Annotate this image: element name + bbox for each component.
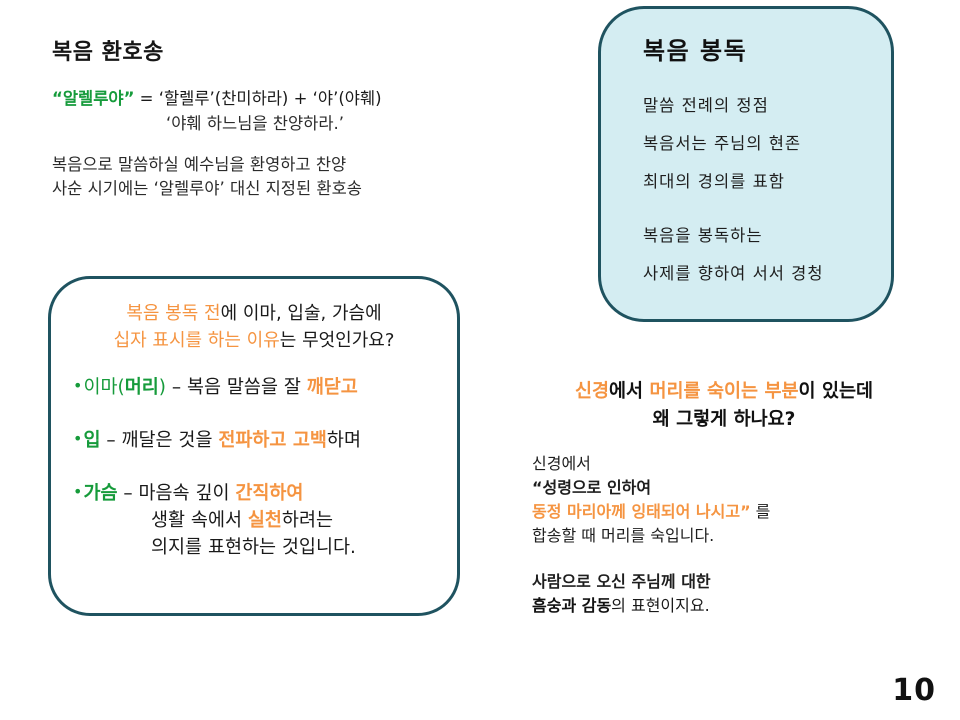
signcross-label-bold: 입	[83, 430, 100, 451]
creed-intro: 신경에서	[532, 452, 948, 476]
proclamation-point: 복음서는 주님의 현존	[643, 125, 889, 163]
list-item: •이마(머리) – 복음 말씀을 잘 깨닫고	[73, 372, 449, 401]
creed-emphasis-tail: 의 표현이지요.	[611, 596, 710, 615]
bullet-icon: •	[73, 376, 83, 395]
proclamation-title: 복음 봉독	[643, 31, 747, 66]
signcross-body-dark: 깨달은 것을	[121, 430, 218, 451]
signcross-body-dark: 복음 말씀을 잘	[187, 377, 307, 398]
signcross-body-orange: 간직하여	[235, 483, 303, 504]
creed-question-line2: 왜 그렇게 하나요?	[500, 406, 948, 434]
signcross-body-orange: 전파하고 고백	[218, 430, 327, 451]
creed-q-seg3: 머리를 숙이는 부분	[649, 381, 798, 402]
creed-quote-line-1: “성령으로 인하여	[532, 476, 948, 500]
acclamation-title: 복음 환호송	[52, 34, 482, 66]
continuation-orange: 실천	[248, 510, 282, 531]
signcross-body-orange: 깨닫고	[307, 377, 358, 398]
signcross-dash: –	[117, 483, 138, 504]
creed-emphasis-bold: 흠숭과 감동	[532, 596, 611, 615]
creed-q-seg1: 신경	[575, 381, 609, 402]
slide-canvas: 복음 환호송 “알렐루야” = ‘할렐루’(찬미하라) + ‘야’(야훼) ‘야…	[0, 0, 960, 720]
signcross-q1-orange: 복음 봉독 전	[126, 303, 220, 324]
creed-question-line: 신경에서 머리를 숙이는 부분이 있는데	[500, 378, 948, 406]
creed-emphasis-line-2: 흠숭과 감동의 표현이지요.	[532, 594, 948, 618]
signcross-dash: –	[166, 377, 187, 398]
proclamation-spacer	[643, 201, 889, 217]
proclamation-box: 복음 봉독 말씀 전례의 정점 복음서는 주님의 현존 최대의 경의를 표함 복…	[598, 6, 894, 322]
acclamation-section: 복음 환호송 “알렐루야” = ‘할렐루’(찬미하라) + ‘야’(야훼) ‘야…	[52, 34, 482, 201]
creed-q-seg4: 이 있는데	[799, 381, 874, 402]
creed-section: 신경에서 머리를 숙이는 부분이 있는데 왜 그렇게 하나요? 신경에서 “성령…	[500, 378, 948, 618]
proclamation-lines: 말씀 전례의 정점 복음서는 주님의 현존 최대의 경의를 표함 복음을 봉독하…	[643, 87, 889, 293]
signcross-box: 복음 봉독 전에 이마, 입술, 가슴에 십자 표시를 하는 이유는 무엇인가요…	[48, 276, 460, 616]
proclamation-point: 복음을 봉독하는	[643, 217, 889, 255]
signcross-q2-dark: 는 무엇인가요?	[280, 330, 395, 351]
creed-spacer	[532, 548, 948, 570]
proclamation-point: 최대의 경의를 표함	[643, 163, 889, 201]
continuation-dark-pre: 의지를 표현하는 것입니다.	[151, 537, 356, 558]
signcross-q1-dark: 에 이마, 입술, 가슴에	[221, 303, 382, 324]
creed-closing: 합송할 때 머리를 숙입니다.	[532, 524, 948, 548]
signcross-label-bold: 머리	[125, 377, 159, 398]
creed-quote-line-2: 동정 마리아께 잉태되어 나시고” 를	[532, 500, 948, 524]
acclamation-term: “알렐루야”	[52, 89, 134, 108]
proclamation-point: 말씀 전례의 정점	[643, 87, 889, 125]
creed-body: 신경에서 “성령으로 인하여 동정 마리아께 잉태되어 나시고” 를 합송할 때…	[500, 452, 948, 618]
signcross-label-plain: 이마(	[83, 377, 124, 398]
acclamation-notes: 복음으로 말씀하실 예수님을 환영하고 찬양 사순 시기에는 ‘알렐루야’ 대신…	[52, 153, 482, 201]
signcross-body-dark: 마음속 깊이	[139, 483, 236, 504]
acclamation-definition: “알렐루야” = ‘할렐루’(찬미하라) + ‘야’(야훼) ‘야훼 하느님을 …	[52, 86, 482, 136]
creed-q-seg2: 에서	[609, 381, 649, 402]
list-item: •가슴 – 마음속 깊이 간직하여생활 속에서 실천하려는의지를 표현하는 것입…	[73, 478, 449, 561]
page-number: 10	[892, 673, 936, 708]
signcross-continuation-line: 의지를 표현하는 것입니다.	[73, 534, 449, 561]
bullet-icon: •	[73, 429, 83, 448]
list-item: •입 – 깨달은 것을 전파하고 고백하며	[73, 425, 449, 454]
creed-emphasis-line-1: 사람으로 오신 주님께 대한	[532, 570, 948, 594]
acclamation-note-line: 사순 시기에는 ‘알렐루야’ 대신 지정된 환호송	[52, 177, 482, 201]
signcross-question-line: 복음 봉독 전에 이마, 입술, 가슴에	[51, 300, 457, 327]
acclamation-equals: = ‘할렐루’(찬미하라) + ‘야’(야훼)	[134, 89, 381, 108]
signcross-continuation-line: 생활 속에서 실천하려는	[73, 507, 449, 534]
signcross-question-line: 십자 표시를 하는 이유는 무엇인가요?	[51, 327, 457, 354]
continuation-dark-post: 하려는	[282, 510, 333, 531]
signcross-list: •이마(머리) – 복음 말씀을 잘 깨닫고 •입 – 깨달은 것을 전파하고 …	[73, 372, 449, 561]
signcross-q2-orange: 십자 표시를 하는 이유	[114, 330, 280, 351]
continuation-dark-pre: 생활 속에서	[151, 510, 248, 531]
signcross-dash: –	[100, 430, 121, 451]
bullet-icon: •	[73, 482, 83, 501]
acclamation-meaning: ‘야훼 하느님을 찬양하라.’	[52, 111, 482, 136]
creed-quote-text: 동정 마리아께 잉태되어 나시고”	[532, 502, 751, 521]
creed-question: 신경에서 머리를 숙이는 부분이 있는데 왜 그렇게 하나요?	[500, 378, 948, 434]
signcross-body-tail: 하며	[327, 430, 361, 451]
signcross-label-close: )	[159, 377, 166, 398]
signcross-label-bold: 가슴	[83, 483, 117, 504]
acclamation-definition-line: “알렐루야” = ‘할렐루’(찬미하라) + ‘야’(야훼)	[52, 86, 482, 111]
signcross-question: 복음 봉독 전에 이마, 입술, 가슴에 십자 표시를 하는 이유는 무엇인가요…	[51, 300, 457, 354]
creed-quote-tail: 를	[751, 502, 771, 521]
proclamation-point: 사제를 향하여 서서 경청	[643, 255, 889, 293]
acclamation-note-line: 복음으로 말씀하실 예수님을 환영하고 찬양	[52, 153, 482, 177]
